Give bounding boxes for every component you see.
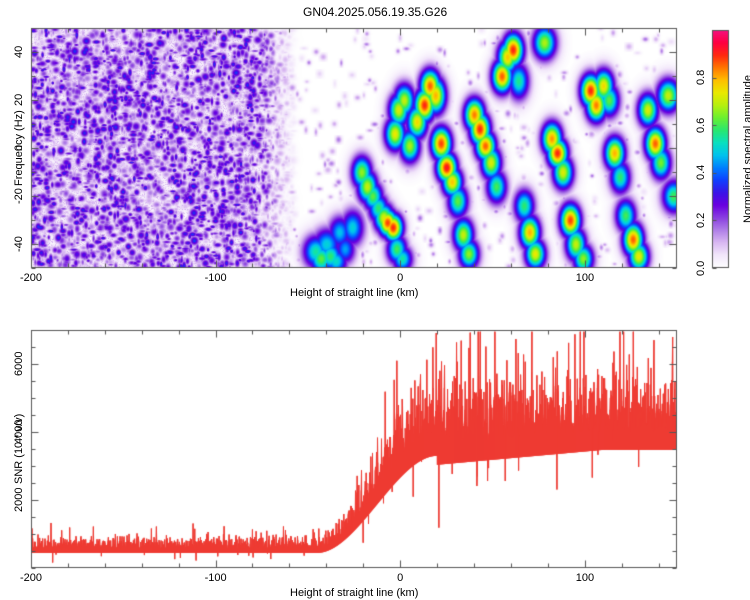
plot-canvas xyxy=(0,0,750,600)
xtick-label-0-1: -100 xyxy=(205,273,227,284)
ytick-label-0-4: 40 xyxy=(14,46,25,58)
figure-title: GN04.2025.056.19.35.G26 xyxy=(303,6,447,18)
colorbar-tick-label-1: 0.2 xyxy=(696,213,707,228)
spectrogram-xaxis-label: Height of straight line (km) xyxy=(290,288,418,299)
ytick-label-0-0: -40 xyxy=(14,236,25,252)
colorbar-tick-label-0: 0.0 xyxy=(696,260,707,275)
ytick-label-1-0: 2000 xyxy=(14,488,25,512)
colorbar-tick-label-3: 0.6 xyxy=(696,117,707,132)
snr-xaxis-label: Height of straight line (km) xyxy=(290,588,418,599)
ytick-label-1-1: 4000 xyxy=(14,420,25,444)
ytick-label-0-3: 20 xyxy=(14,94,25,106)
figure-root: GN04.2025.056.19.35.G26 Height of straig… xyxy=(0,0,750,600)
ytick-label-1-2: 6000 xyxy=(14,352,25,376)
xtick-label-1-0: -200 xyxy=(20,573,42,584)
colorbar-tick-label-2: 0.4 xyxy=(696,165,707,180)
colorbar-tick-label-4: 0.8 xyxy=(696,70,707,85)
xtick-label-1-1: -100 xyxy=(205,573,227,584)
xtick-label-0-0: -200 xyxy=(20,273,42,284)
xtick-label-1-2: 0 xyxy=(397,573,403,584)
colorbar-label: Normalized spectral amplitude xyxy=(743,75,750,223)
xtick-label-1-3: 100 xyxy=(576,573,594,584)
ytick-label-0-1: -20 xyxy=(14,188,25,204)
xtick-label-0-3: 100 xyxy=(576,273,594,284)
ytick-label-0-2: 0 xyxy=(14,145,25,151)
xtick-label-0-2: 0 xyxy=(397,273,403,284)
